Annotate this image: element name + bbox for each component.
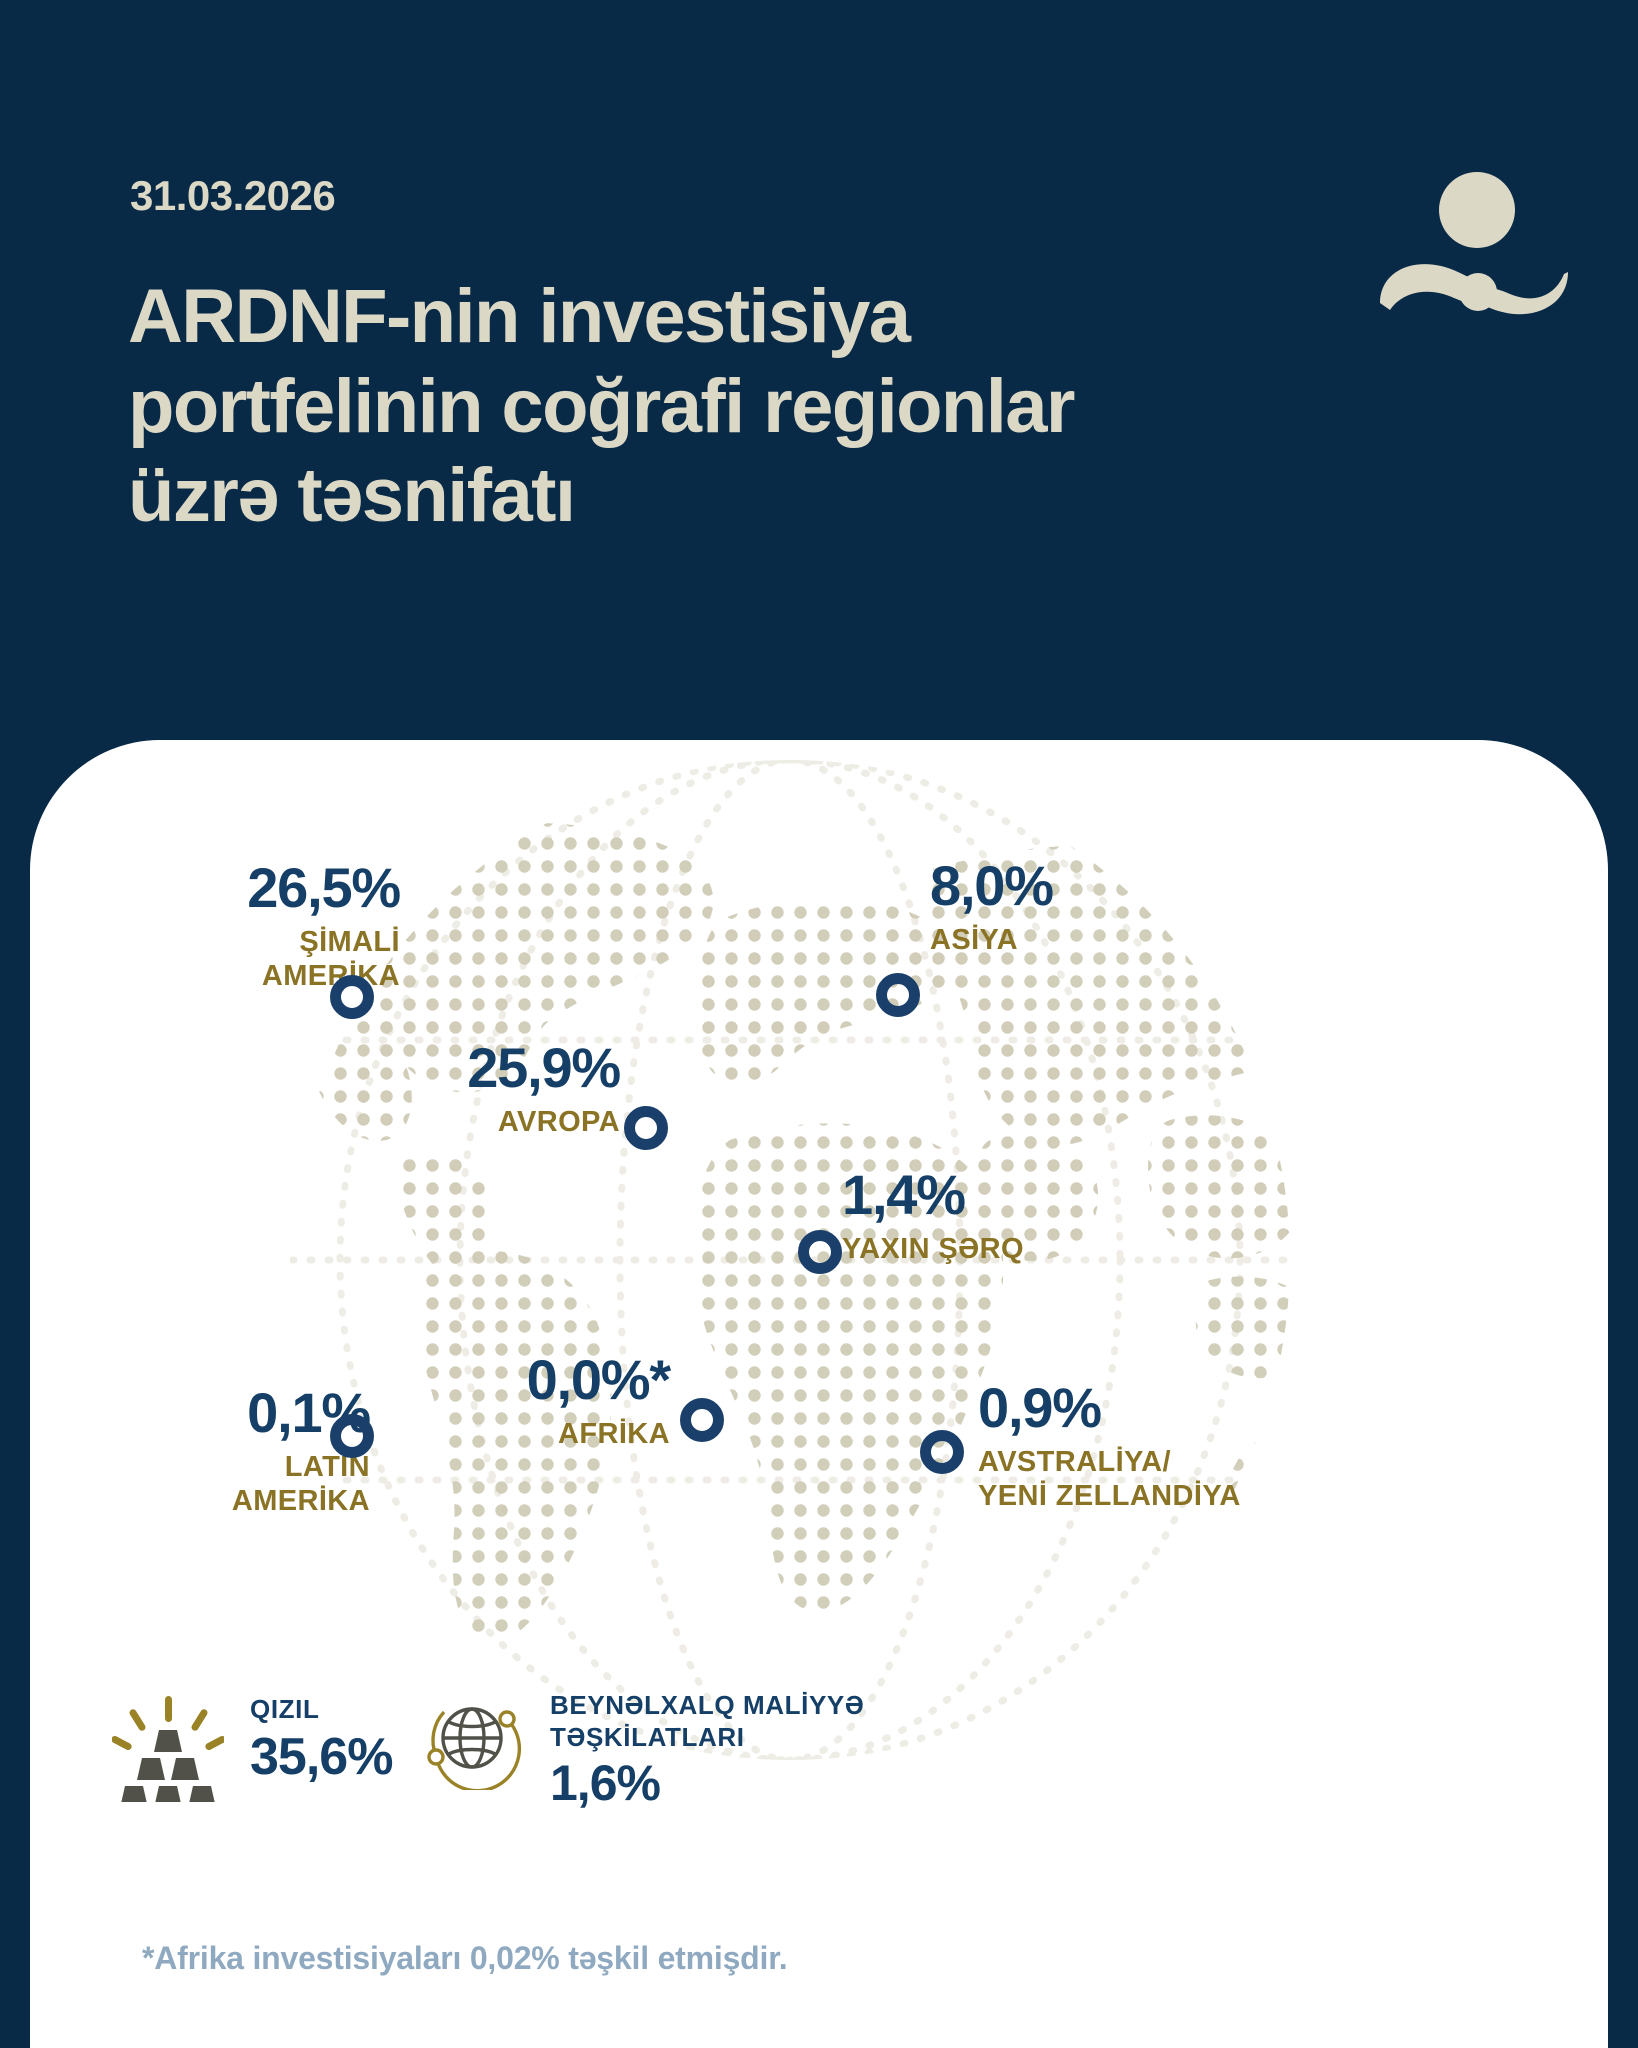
region-north-america-value: 26,5% <box>110 860 400 916</box>
legend-gold-value: 35,6% <box>250 1730 392 1785</box>
legend-ifi-label-line2: TƏŞKİLATLARI <box>550 1722 745 1752</box>
region-australia-label-line2: YENİ ZELLANDİYA <box>978 1480 1241 1512</box>
region-north-america: 26,5% ŞİMALİ AMERİKA <box>110 860 400 993</box>
marker-asia[interactable] <box>876 973 920 1017</box>
footnote: *Afrika investisiyaları 0,02% təşkil etm… <box>142 1940 787 1977</box>
region-africa-value: 0,0%* <box>410 1352 670 1408</box>
legend-ifi-value: 1,6% <box>550 1757 864 1810</box>
legend-item-gold[interactable]: QIZIL 35,6% <box>112 1690 392 1807</box>
marker-europe[interactable] <box>624 1106 668 1150</box>
legend-gold-label: QIZIL <box>250 1694 392 1726</box>
region-middle-east: 1,4% YAXIN ŞƏRQ <box>842 1167 1222 1266</box>
gold-bars-icon <box>112 1690 224 1807</box>
legend-ifi-label-line1: BEYNƏLXALQ MALİYYƏ <box>550 1690 864 1720</box>
person-wave-logo-icon <box>1372 168 1572 328</box>
region-asia-label: ASİYA <box>930 923 1270 957</box>
infographic-page: 31.03.2026 ARDNF-nin investisiya portfel… <box>0 0 1638 2048</box>
content-card: 26,5% ŞİMALİ AMERİKA 8,0% ASİYA 25,9% AV… <box>30 740 1608 2048</box>
marker-middle-east[interactable] <box>798 1230 842 1274</box>
region-asia: 8,0% ASİYA <box>930 858 1270 957</box>
region-latin-america: 0,1% LATIN AMERİKA <box>110 1385 370 1518</box>
marker-north-america[interactable] <box>330 975 374 1019</box>
region-europe-value: 25,9% <box>360 1040 620 1096</box>
region-australia-label: AVSTRALİYA/ YENİ ZELLANDİYA <box>978 1445 1498 1513</box>
marker-africa[interactable] <box>680 1398 724 1442</box>
header: 31.03.2026 ARDNF-nin investisiya portfel… <box>0 0 1638 740</box>
region-middle-east-label: YAXIN ŞƏRQ <box>842 1232 1222 1266</box>
marker-australia[interactable] <box>920 1430 964 1474</box>
globe-orbit-icon <box>420 1686 524 1795</box>
marker-latin-america[interactable] <box>330 1414 374 1458</box>
legend-item-ifi[interactable]: BEYNƏLXALQ MALİYYƏ TƏŞKİLATLARI 1,6% <box>420 1686 864 1810</box>
region-europe-label: AVROPA <box>360 1105 620 1139</box>
region-north-america-label-line1: ŞİMALİ <box>299 926 400 958</box>
page-title: ARDNF-nin investisiya portfelinin coğraf… <box>128 272 1178 541</box>
region-australia: 0,9% AVSTRALİYA/ YENİ ZELLANDİYA <box>978 1380 1498 1513</box>
region-middle-east-value: 1,4% <box>842 1167 1222 1223</box>
region-latin-america-label: LATIN AMERİKA <box>110 1450 370 1518</box>
region-latin-america-label-line2: AMERİKA <box>232 1485 370 1517</box>
region-australia-label-line1: AVSTRALİYA/ <box>978 1446 1171 1478</box>
legend-ifi-label: BEYNƏLXALQ MALİYYƏ TƏŞKİLATLARI <box>550 1690 864 1753</box>
region-europe: 25,9% AVROPA <box>360 1040 620 1139</box>
region-australia-value: 0,9% <box>978 1380 1498 1436</box>
report-date: 31.03.2026 <box>130 172 335 220</box>
region-africa-label: AFRİKA <box>410 1417 670 1451</box>
legend-gold-text: QIZIL 35,6% <box>250 1690 392 1784</box>
region-asia-value: 8,0% <box>930 858 1270 914</box>
region-africa: 0,0%* AFRİKA <box>410 1352 670 1451</box>
legend-ifi-text: BEYNƏLXALQ MALİYYƏ TƏŞKİLATLARI 1,6% <box>550 1686 864 1810</box>
